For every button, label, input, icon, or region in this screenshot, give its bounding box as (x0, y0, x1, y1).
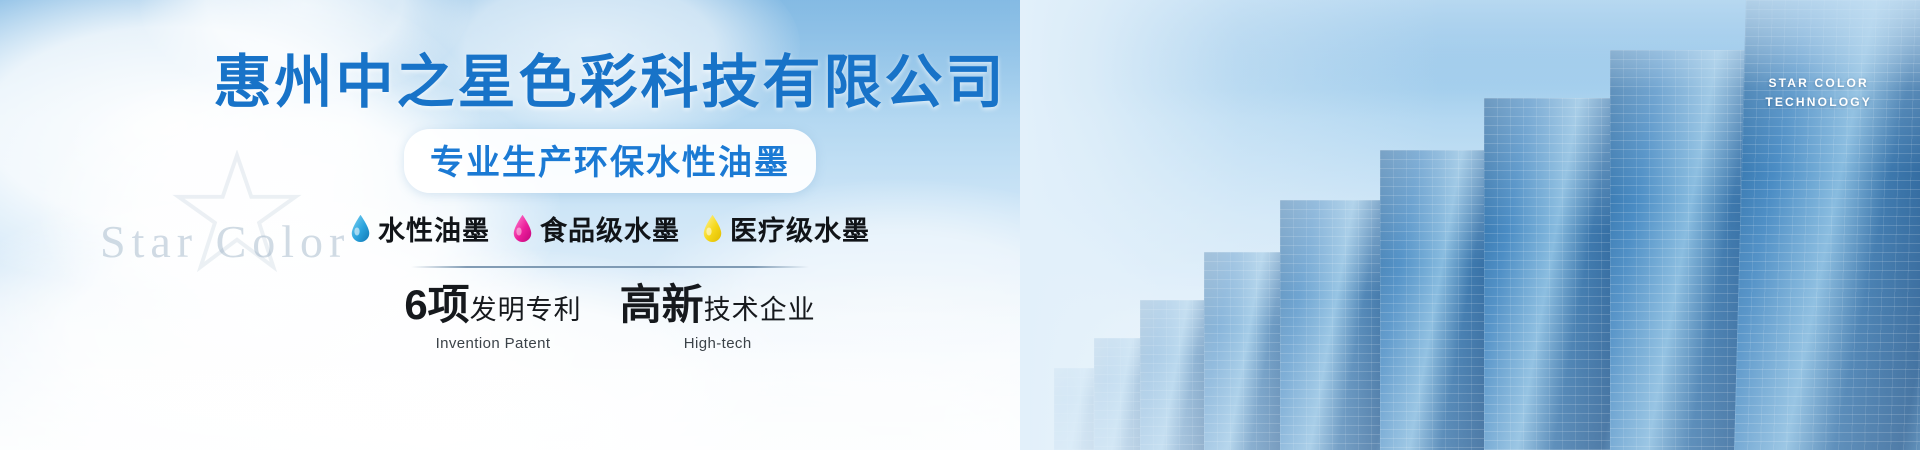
badge-high-tech: 高新技术企业 High-tech (620, 284, 816, 352)
slogan-text: 专业生产环保水性油墨 (430, 135, 790, 184)
badge-main-line: 6项发明专利 (404, 284, 581, 326)
badge-subtext: 技术企业 (704, 295, 816, 325)
banner-content: 惠州中之星色彩科技有限公司 专业生产环保水性油墨 水性油墨 (0, 0, 1220, 450)
water-drop-icon (512, 214, 533, 242)
badge-highlight: 6项 (404, 281, 469, 328)
feature-label: 医疗级水墨 (730, 209, 870, 248)
corner-brand-text: STAR COLOR TECHNOLOGY (1765, 74, 1872, 111)
badge-subtext: 发明专利 (470, 295, 582, 325)
feature-item: 水性油墨 (350, 209, 490, 248)
feature-list: 水性油墨 食品级水墨 (350, 209, 870, 248)
corner-brand-line-2: TECHNOLOGY (1765, 93, 1872, 112)
feature-label: 食品级水墨 (540, 209, 680, 248)
badge-highlight: 高新 (620, 281, 704, 328)
badge-main-line: 高新技术企业 (620, 284, 816, 326)
section-divider (411, 266, 809, 268)
slogan-pill: 专业生产环保水性油墨 (404, 129, 816, 193)
water-drop-icon (702, 214, 723, 242)
promotional-banner: STAR COLOR TECHNOLOGY Star Color 惠州中之星色彩… (0, 0, 1920, 450)
achievement-badges: 6项发明专利 Invention Patent 高新技术企业 High-tech (404, 284, 815, 352)
water-drop-icon (350, 214, 371, 242)
corner-brand-line-1: STAR COLOR (1765, 74, 1872, 93)
badge-english-caption: High-tech (620, 335, 816, 352)
feature-item: 医疗级水墨 (702, 209, 870, 248)
company-title: 惠州中之星色彩科技有限公司 (213, 52, 1006, 115)
badge-invention-patent: 6项发明专利 Invention Patent (404, 284, 581, 352)
feature-item: 食品级水墨 (512, 209, 680, 248)
feature-label: 水性油墨 (378, 209, 490, 248)
badge-english-caption: Invention Patent (404, 335, 581, 352)
